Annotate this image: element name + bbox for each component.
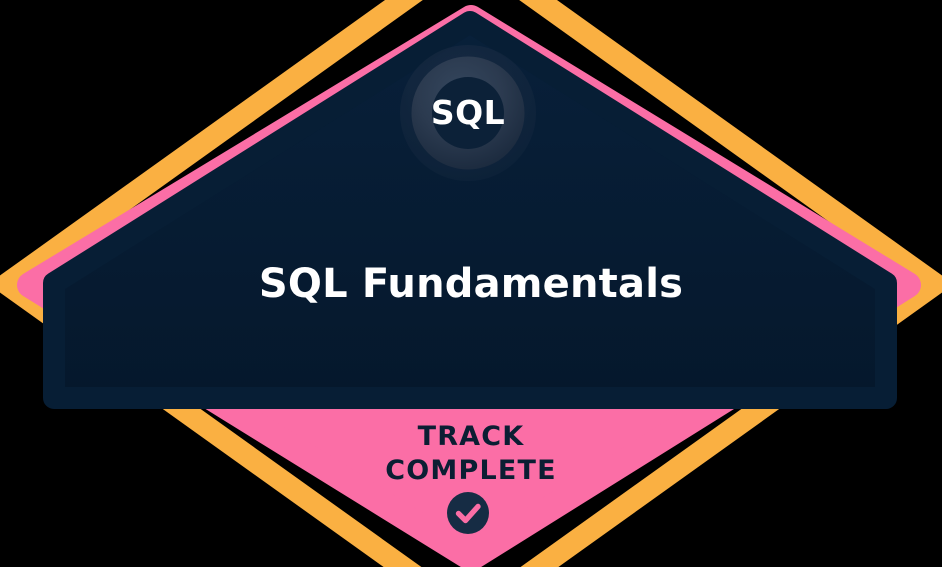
track-completion-badge-canvas: SQL SQL Fundamentals TRACK COMPLETE [0,0,942,567]
track-title: SQL Fundamentals [0,255,942,313]
status-label-line-1: TRACK [0,420,942,453]
status-label-line-2: COMPLETE [0,454,942,487]
completion-check-badge [447,492,489,534]
track-abbreviation: SQL [398,90,538,135]
